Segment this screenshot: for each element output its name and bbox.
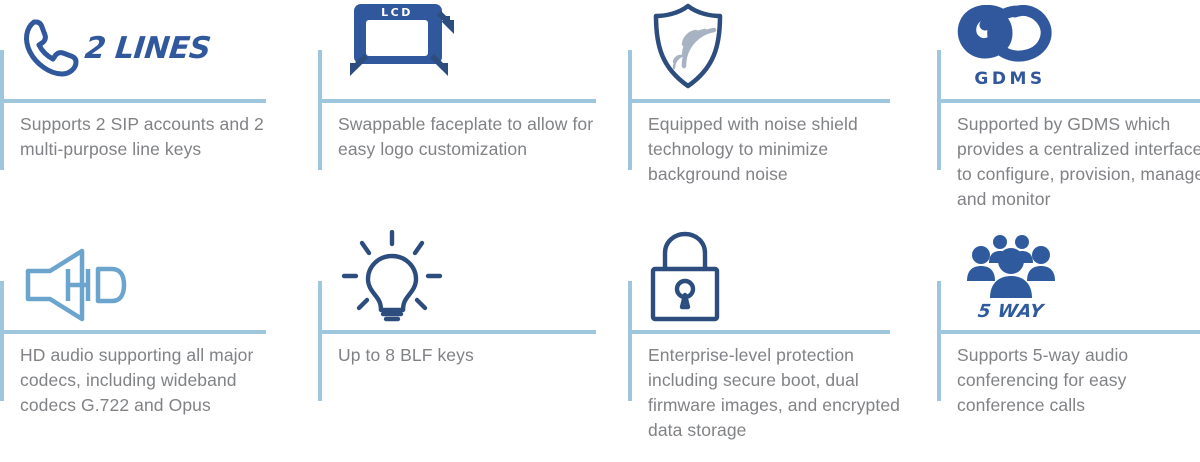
feature-icon-noise-shield xyxy=(648,2,728,94)
feature-icon-lightbulb xyxy=(340,231,444,325)
feature-description: Enterprise-level protection including se… xyxy=(648,343,924,442)
horizontal-rule xyxy=(632,99,890,103)
feature-grid: 2 LINES Supports 2 SIP accounts and 2 mu… xyxy=(0,0,1200,462)
feature-icon-security xyxy=(648,231,722,325)
feature-row-bottom: HD audio supporting all major codecs, in… xyxy=(0,231,1200,462)
vertical-rule xyxy=(937,281,941,401)
feature-description: Equipped with noise shield technology to… xyxy=(648,112,924,187)
horizontal-rule xyxy=(322,99,596,103)
feature-card-gdms: GDMS Supported by GDMS which provides a … xyxy=(937,0,1200,231)
horizontal-rule xyxy=(4,99,266,103)
hd-speaker-icon xyxy=(20,245,135,325)
vertical-rule xyxy=(0,281,4,401)
feature-description: Supported by GDMS which provides a centr… xyxy=(957,112,1200,211)
vertical-rule xyxy=(937,50,941,170)
feature-card-five-way-conference: 5 WAY Supports 5-way audio conferencing … xyxy=(937,231,1200,462)
vertical-rule xyxy=(318,281,322,401)
feature-icon-label: 2 LINES xyxy=(83,31,212,66)
vertical-rule xyxy=(0,50,4,170)
feature-icon-label: GDMS xyxy=(974,69,1045,89)
vertical-rule xyxy=(318,50,322,170)
feature-icon-label: 5 WAY xyxy=(977,301,1045,322)
feature-description: Up to 8 BLF keys xyxy=(338,343,623,368)
horizontal-rule xyxy=(322,330,596,334)
feature-row-top: 2 LINES Supports 2 SIP accounts and 2 mu… xyxy=(0,0,1200,231)
feature-card-blf-keys: Up to 8 BLF keys xyxy=(318,231,614,462)
horizontal-rule xyxy=(632,330,890,334)
feature-icon-hd-audio xyxy=(20,239,135,331)
noise-shield-icon xyxy=(648,2,728,94)
vertical-rule xyxy=(628,281,632,401)
feature-description: HD audio supporting all major codecs, in… xyxy=(20,343,296,418)
vertical-rule xyxy=(628,50,632,170)
horizontal-rule xyxy=(941,99,1200,103)
lightbulb-icon xyxy=(340,230,444,326)
feature-description: Supports 5-way audio conferencing for ea… xyxy=(957,343,1200,418)
feature-card-swappable-faceplate: LCD xyxy=(318,0,614,231)
feature-icon-two-lines: 2 LINES xyxy=(20,2,210,94)
phone-handset-icon xyxy=(20,14,82,82)
gdms-logo-icon xyxy=(957,5,1063,67)
feature-icon-conference: 5 WAY xyxy=(961,231,1061,325)
feature-card-hd-audio: HD audio supporting all major codecs, in… xyxy=(0,231,300,462)
feature-icon-lcd-faceplate: LCD xyxy=(338,2,456,94)
feature-description: Supports 2 SIP accounts and 2 multi-purp… xyxy=(20,112,296,162)
feature-description: Swappable faceplate to allow for easy lo… xyxy=(338,112,623,162)
lcd-faceplate-icon: LCD xyxy=(338,2,456,94)
svg-text:LCD: LCD xyxy=(381,6,413,19)
feature-card-security: Enterprise-level protection including se… xyxy=(628,231,924,462)
feature-icon-gdms: GDMS xyxy=(957,0,1063,94)
feature-card-noise-shield: Equipped with noise shield technology to… xyxy=(628,0,924,231)
horizontal-rule xyxy=(941,330,1200,334)
conference-people-icon xyxy=(961,234,1061,300)
feature-card-two-lines: 2 LINES Supports 2 SIP accounts and 2 mu… xyxy=(0,0,300,231)
padlock-icon xyxy=(648,231,722,325)
